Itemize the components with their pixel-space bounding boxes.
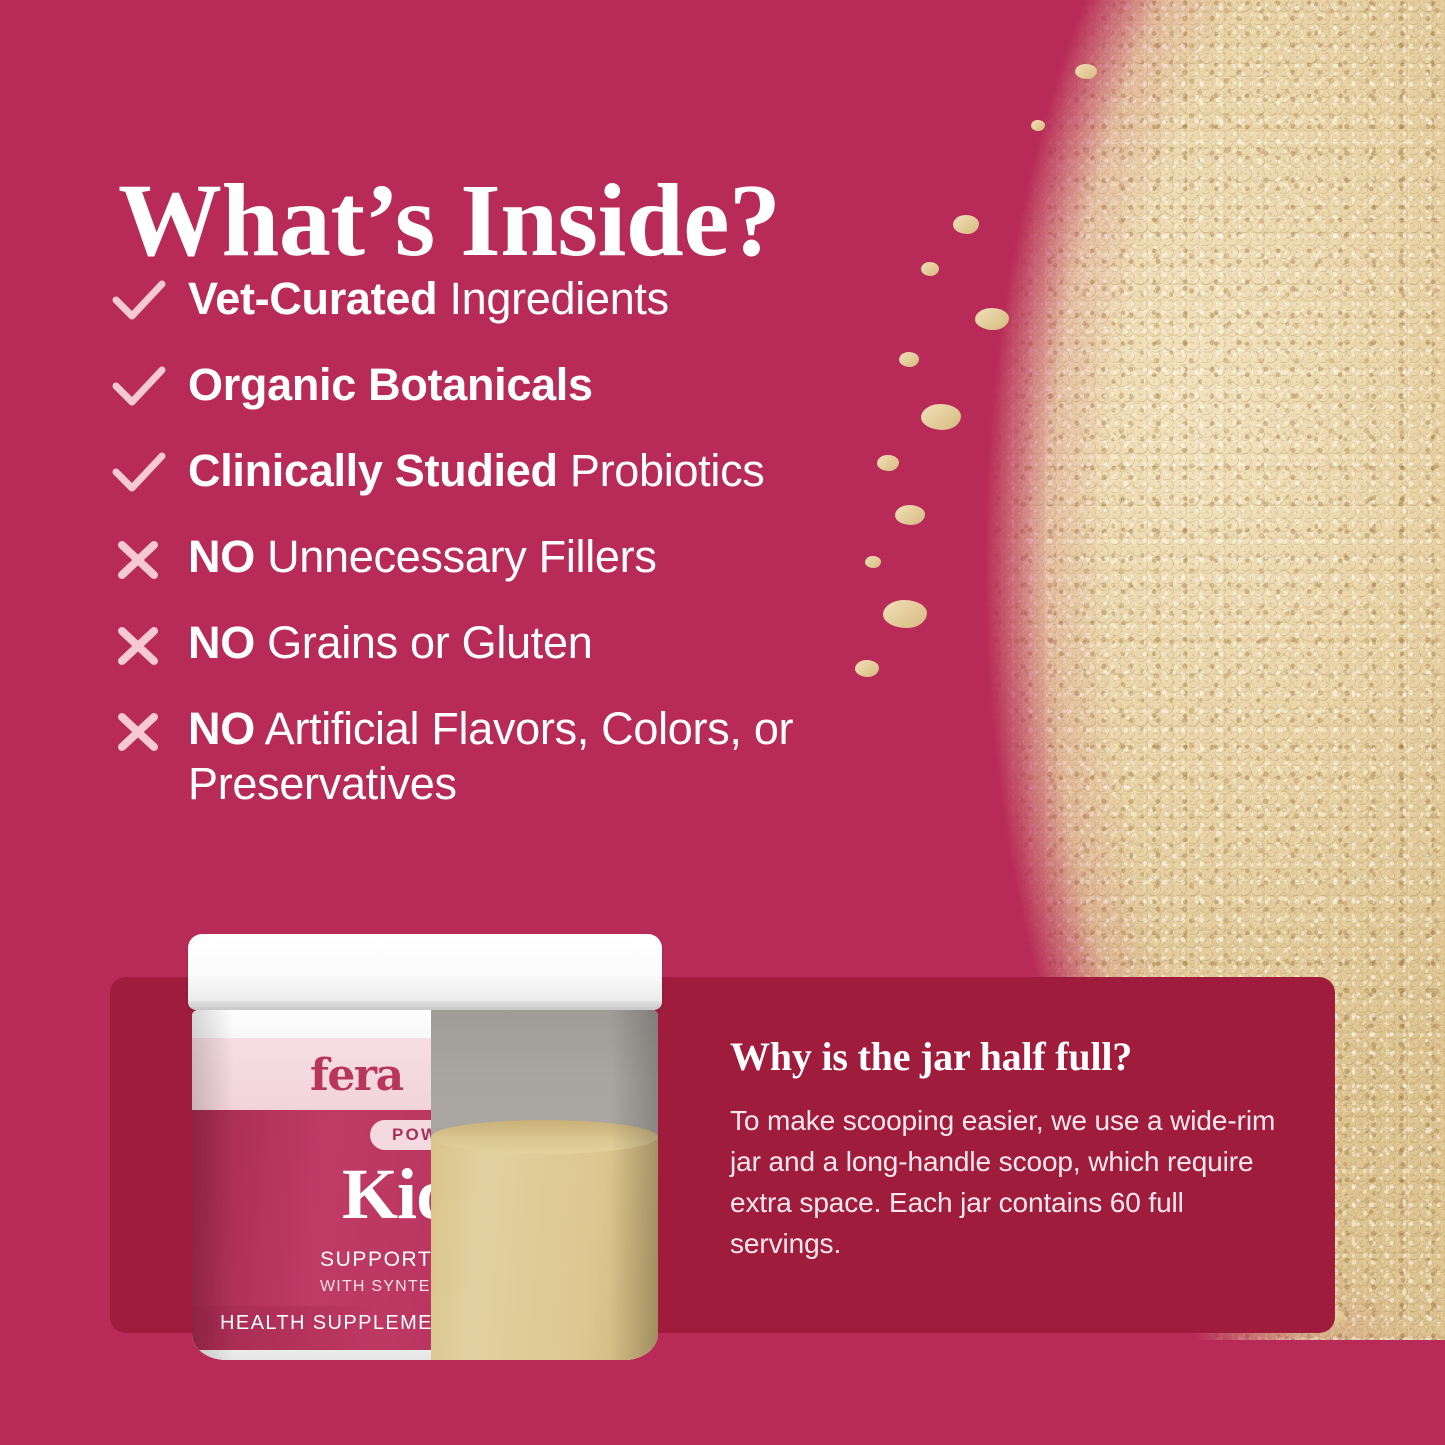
jar-body: fera POWDER Kidney SUPPORTS RENAL HEALTH… xyxy=(192,1010,658,1360)
benefit-bold: Clinically Studied xyxy=(188,445,558,496)
info-card-text: To make scooping easier, we use a wide-r… xyxy=(730,1101,1290,1265)
benefit-rest: Probiotics xyxy=(558,445,765,496)
list-item-text: NO Artificial Flavors, Colors, or Preser… xyxy=(188,702,990,812)
benefit-rest: Grains or Gluten xyxy=(255,617,593,668)
benefit-bold: NO xyxy=(188,703,255,754)
list-item-text: Vet-Curated Ingredients xyxy=(188,272,669,327)
product-infographic: What’s Inside? Vet-Curated Ingredients O… xyxy=(0,0,1445,1445)
cross-icon xyxy=(110,534,188,588)
cross-icon xyxy=(110,620,188,674)
benefit-list: Vet-Curated Ingredients Organic Botanica… xyxy=(110,272,990,840)
check-icon xyxy=(110,448,188,502)
jar-cutaway xyxy=(431,1010,658,1360)
check-icon xyxy=(110,276,188,330)
jar-lid xyxy=(188,934,662,1010)
info-card-title: Why is the jar half full? xyxy=(730,1035,1290,1079)
list-item: Organic Botanicals xyxy=(110,358,990,416)
empty-headspace xyxy=(431,1010,658,1136)
list-item-text: NO Unnecessary Fillers xyxy=(188,530,657,585)
cross-icon xyxy=(110,706,188,760)
list-item: Clinically Studied Probiotics xyxy=(110,444,990,502)
list-item: Vet-Curated Ingredients xyxy=(110,272,990,330)
list-item-text: Clinically Studied Probiotics xyxy=(188,444,764,499)
benefit-rest: Artificial Flavors, Colors, or Preservat… xyxy=(188,703,793,809)
list-item: NO Artificial Flavors, Colors, or Preser… xyxy=(110,702,990,812)
list-item: NO Unnecessary Fillers xyxy=(110,530,990,588)
info-card-body: Why is the jar half full? To make scoopi… xyxy=(730,1035,1290,1265)
benefit-rest: Ingredients xyxy=(437,273,669,324)
product-jar: fera POWDER Kidney SUPPORTS RENAL HEALTH… xyxy=(186,934,664,1364)
benefit-bold: Organic Botanicals xyxy=(188,359,593,410)
benefit-rest: Unnecessary Fillers xyxy=(255,531,657,582)
list-item-text: NO Grains or Gluten xyxy=(188,616,592,671)
list-item: NO Grains or Gluten xyxy=(110,616,990,674)
powder-speck xyxy=(1075,64,1097,79)
check-icon xyxy=(110,362,188,416)
powder-fill xyxy=(431,1136,658,1360)
brand-logo: fera xyxy=(310,1050,403,1101)
page-title: What’s Inside? xyxy=(118,166,1078,276)
powder-speck xyxy=(1031,120,1045,131)
benefit-bold: NO xyxy=(188,531,255,582)
benefit-bold: NO xyxy=(188,617,255,668)
benefit-bold: Vet-Curated xyxy=(188,273,437,324)
list-item-text: Organic Botanicals xyxy=(188,358,593,413)
